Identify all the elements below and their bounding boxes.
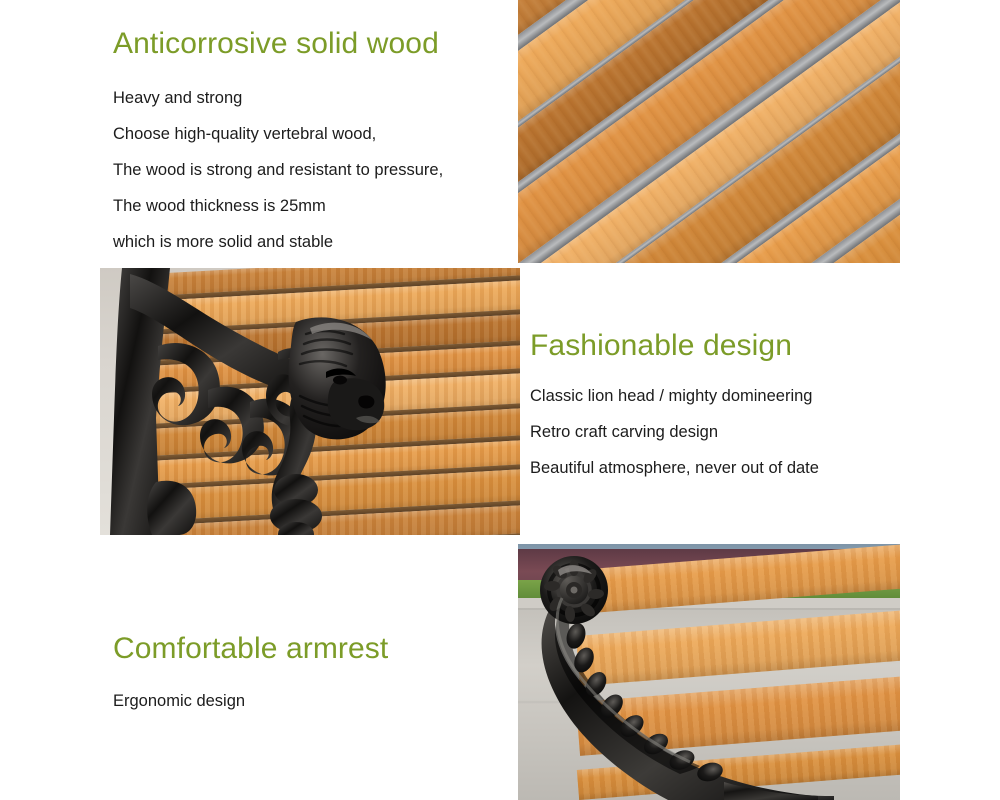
feature-block-anticorrosive-solid-wood: Anticorrosive solid wood Heavy and stron… [113, 26, 443, 260]
photo-inner [100, 268, 520, 535]
feature-lines-anticorrosive-solid-wood: Heavy and strong Choose high-quality ver… [113, 80, 443, 260]
photo-inner [518, 544, 900, 800]
photo-curved-armrest-outdoor [518, 544, 900, 800]
feature-line: which is more solid and stable [113, 224, 443, 260]
feature-line: The wood is strong and resistant to pres… [113, 152, 443, 188]
scroll-volute [540, 556, 608, 624]
feature-line: The wood thickness is 25mm [113, 188, 443, 224]
knot-ornament [270, 474, 322, 535]
photo-lion-head-armrest [100, 268, 520, 535]
wood-slat-group [518, 0, 900, 263]
feature-line: Choose high-quality vertebral wood, [113, 116, 443, 152]
feature-heading-anticorrosive-solid-wood: Anticorrosive solid wood [113, 26, 443, 62]
feature-line: Ergonomic design [113, 683, 388, 719]
feature-line: Heavy and strong [113, 80, 443, 116]
feature-block-comfortable-armrest: Comfortable armrest Ergonomic design [113, 631, 388, 719]
feature-line: Beautiful atmosphere, never out of date [530, 450, 819, 486]
feature-line: Retro craft carving design [530, 414, 819, 450]
infographic-page: Anticorrosive solid wood Heavy and stron… [0, 0, 1000, 800]
feature-lines-fashionable-design: Classic lion head / mighty domineering R… [530, 378, 819, 486]
feature-lines-comfortable-armrest: Ergonomic design [113, 683, 388, 719]
photo-wood-slats-closeup [518, 0, 900, 263]
lion-head [289, 317, 386, 439]
photo-inner [518, 0, 900, 263]
feature-block-fashionable-design: Fashionable design Classic lion head / m… [530, 328, 819, 486]
feature-heading-fashionable-design: Fashionable design [530, 328, 819, 364]
curved-armrest-svg [518, 544, 900, 800]
feature-line: Classic lion head / mighty domineering [530, 378, 819, 414]
lion-head-armrest-svg [100, 268, 520, 535]
feature-heading-comfortable-armrest: Comfortable armrest [113, 631, 388, 667]
